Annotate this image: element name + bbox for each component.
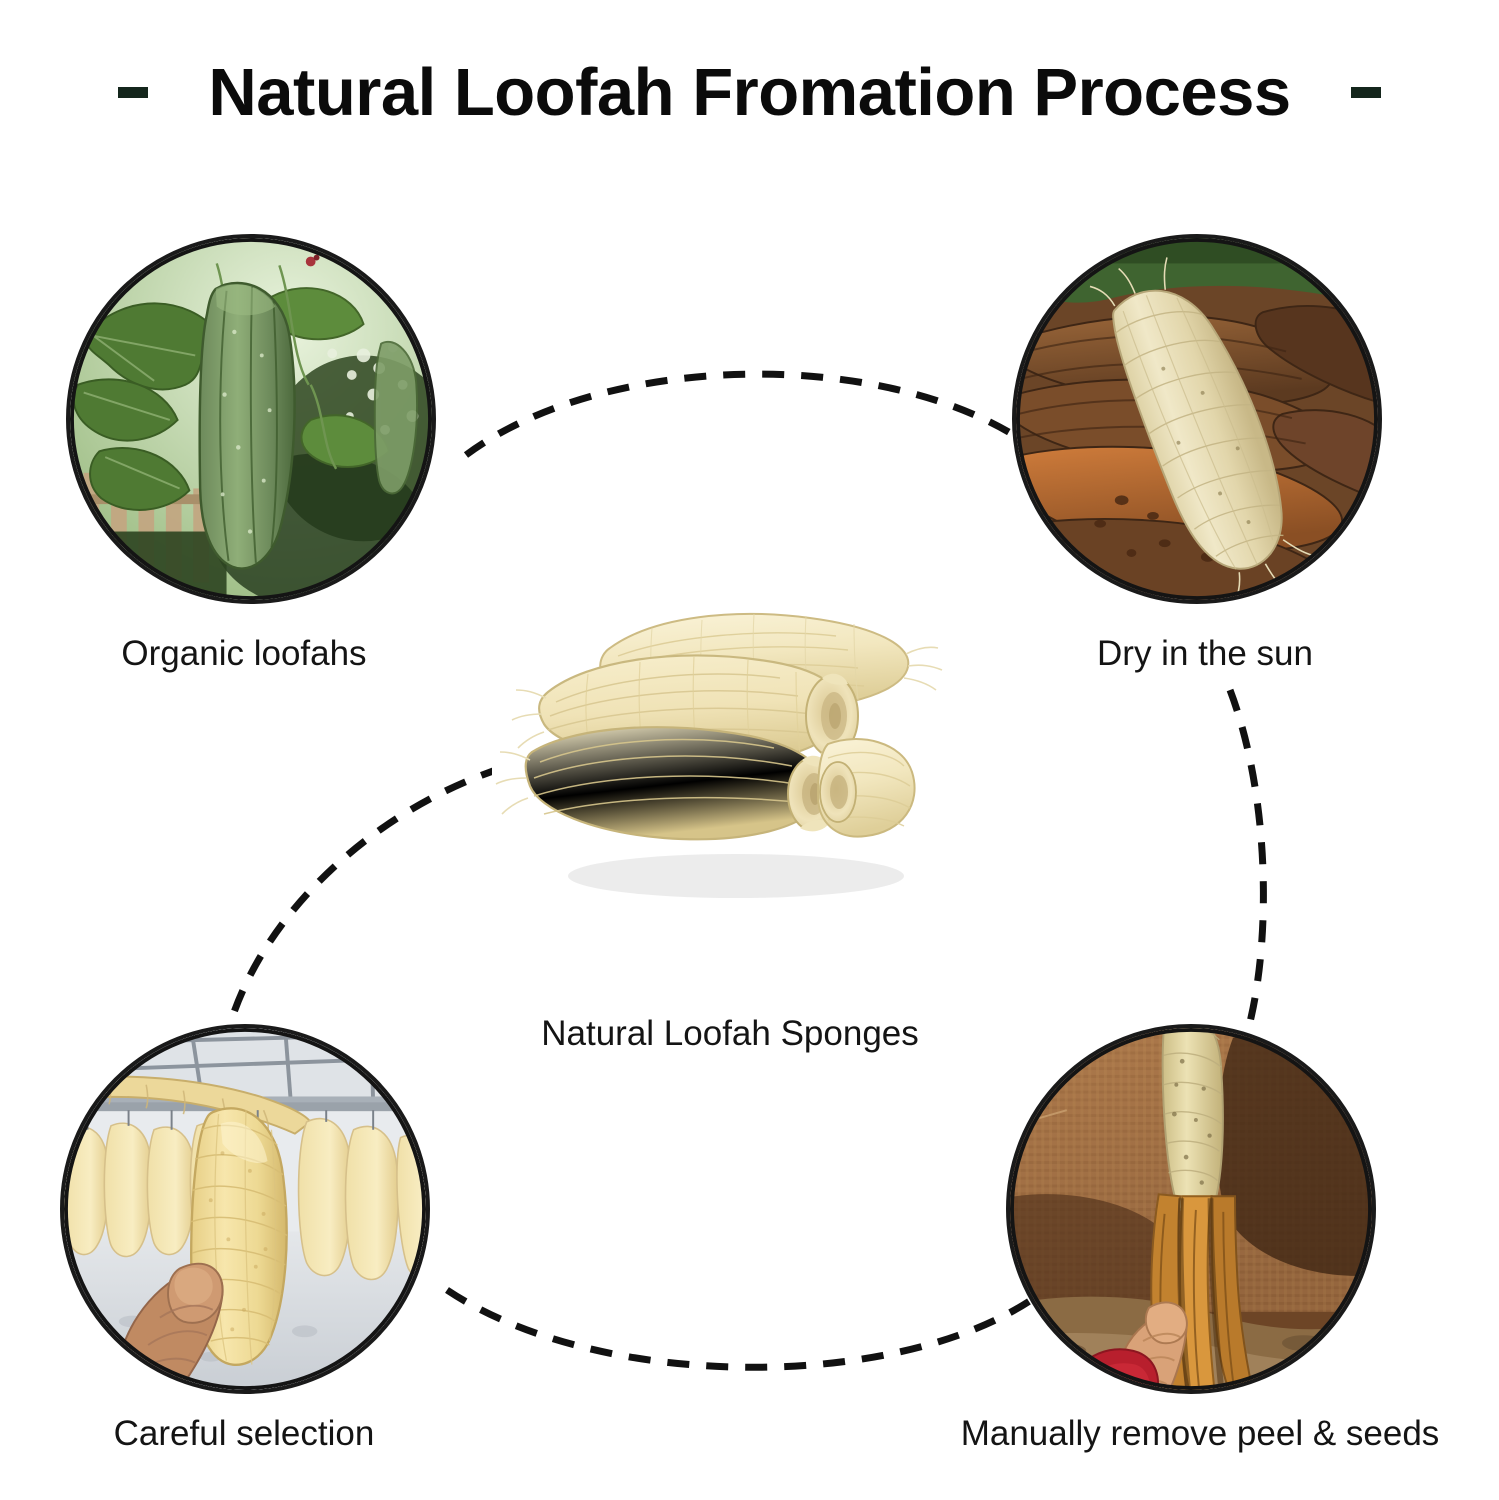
step-node-manually-remove-peel-and-seeds[interactable] [1006, 1024, 1376, 1394]
center-product-label: Natural Loofah Sponges [420, 1014, 1040, 1054]
title-dash-right-icon [1351, 87, 1381, 98]
arc-right-connector [1230, 690, 1263, 1022]
step-node-careful-selection[interactable] [60, 1024, 430, 1394]
center-product-image [492, 556, 962, 926]
step-label-dry-in-the-sun: Dry in the sun [895, 634, 1499, 674]
photo-careful-selection [60, 1024, 430, 1394]
arc-bottom-connector [447, 1290, 1037, 1367]
step-label-organic-loofahs: Organic loofahs [0, 634, 554, 674]
step-node-dry-in-the-sun[interactable] [1012, 234, 1382, 604]
photo-organic-loofahs [66, 234, 436, 604]
photo-manually-remove-peel-and-seeds [1006, 1024, 1376, 1394]
step-label-careful-selection: Careful selection [0, 1414, 554, 1454]
photo-dry-in-the-sun [1012, 234, 1382, 604]
arc-top-connector [466, 374, 1036, 455]
arc-left-connector [232, 768, 502, 1018]
step-node-organic-loofahs[interactable] [66, 234, 436, 604]
title-dash-left-icon [118, 87, 148, 98]
step-label-manually-remove-peel-and-seeds: Manually remove peel & seeds [890, 1414, 1499, 1454]
page-header: Natural Loofah Fromation Process [0, 42, 1499, 142]
page-title: Natural Loofah Fromation Process [208, 54, 1290, 131]
